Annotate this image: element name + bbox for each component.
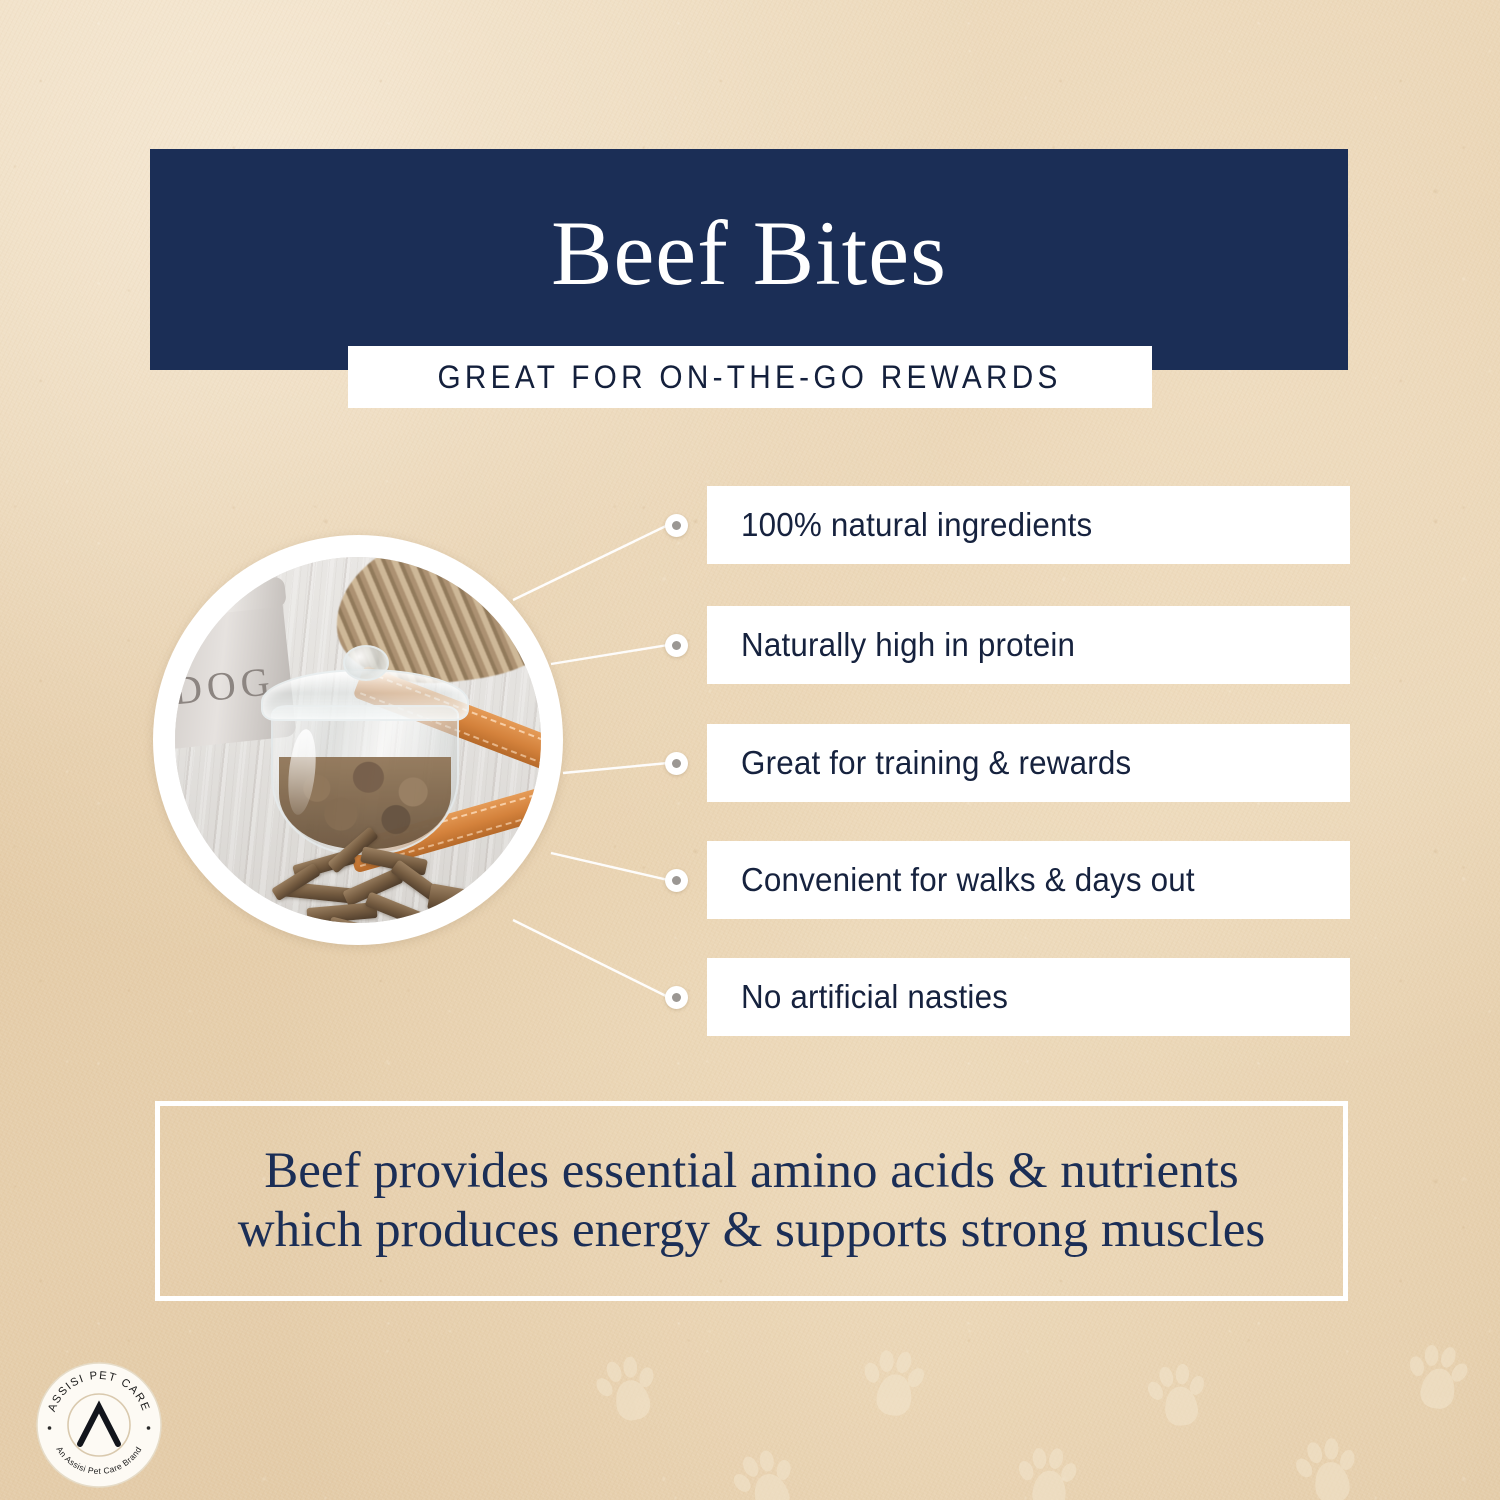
benefit-quote-text: Beef provides essential amino acids & nu… [214,1142,1289,1260]
brand-logo: ASSISI PET CARE An Assisi Pet Care Brand [36,1362,162,1488]
feature-bullet-dot [665,752,688,775]
logo-right-dot [147,1426,151,1430]
benefit-quote-line-2: which produces energy & supports strong … [238,1202,1265,1258]
page-title: Beef Bites [551,207,947,313]
benefit-quote-line-1: Beef provides essential amino acids & nu… [264,1143,1238,1199]
feature-label: Great for training & rewards [741,744,1131,782]
feature-bullet-dot [665,986,688,1009]
feature-card[interactable]: No artificial nasties [707,958,1350,1036]
feature-card[interactable]: Convenient for walks & days out [707,841,1350,919]
feature-label: No artificial nasties [741,978,1008,1016]
subtitle-text: GREAT FOR ON-THE-GO REWARDS [438,359,1062,396]
feature-bullet-dot [665,634,688,657]
product-photo-image: DOG [175,557,541,923]
logo-left-dot [48,1426,52,1430]
feature-card[interactable]: 100% natural ingredients [707,486,1350,564]
feature-label: Convenient for walks & days out [741,861,1195,899]
benefit-quote-box: Beef provides essential amino acids & nu… [155,1101,1348,1301]
header-banner: Beef Bites [150,149,1348,370]
feature-bullet-dot [665,514,688,537]
feature-bullet-dot [665,869,688,892]
feature-card[interactable]: Naturally high in protein [707,606,1350,684]
product-photo-circle: DOG [153,535,563,945]
glass-jar-knob [343,645,389,681]
feature-label: 100% natural ingredients [741,506,1092,544]
feature-card[interactable]: Great for training & rewards [707,724,1350,802]
subtitle-banner: GREAT FOR ON-THE-GO REWARDS [348,346,1152,408]
feature-label: Naturally high in protein [741,626,1075,664]
